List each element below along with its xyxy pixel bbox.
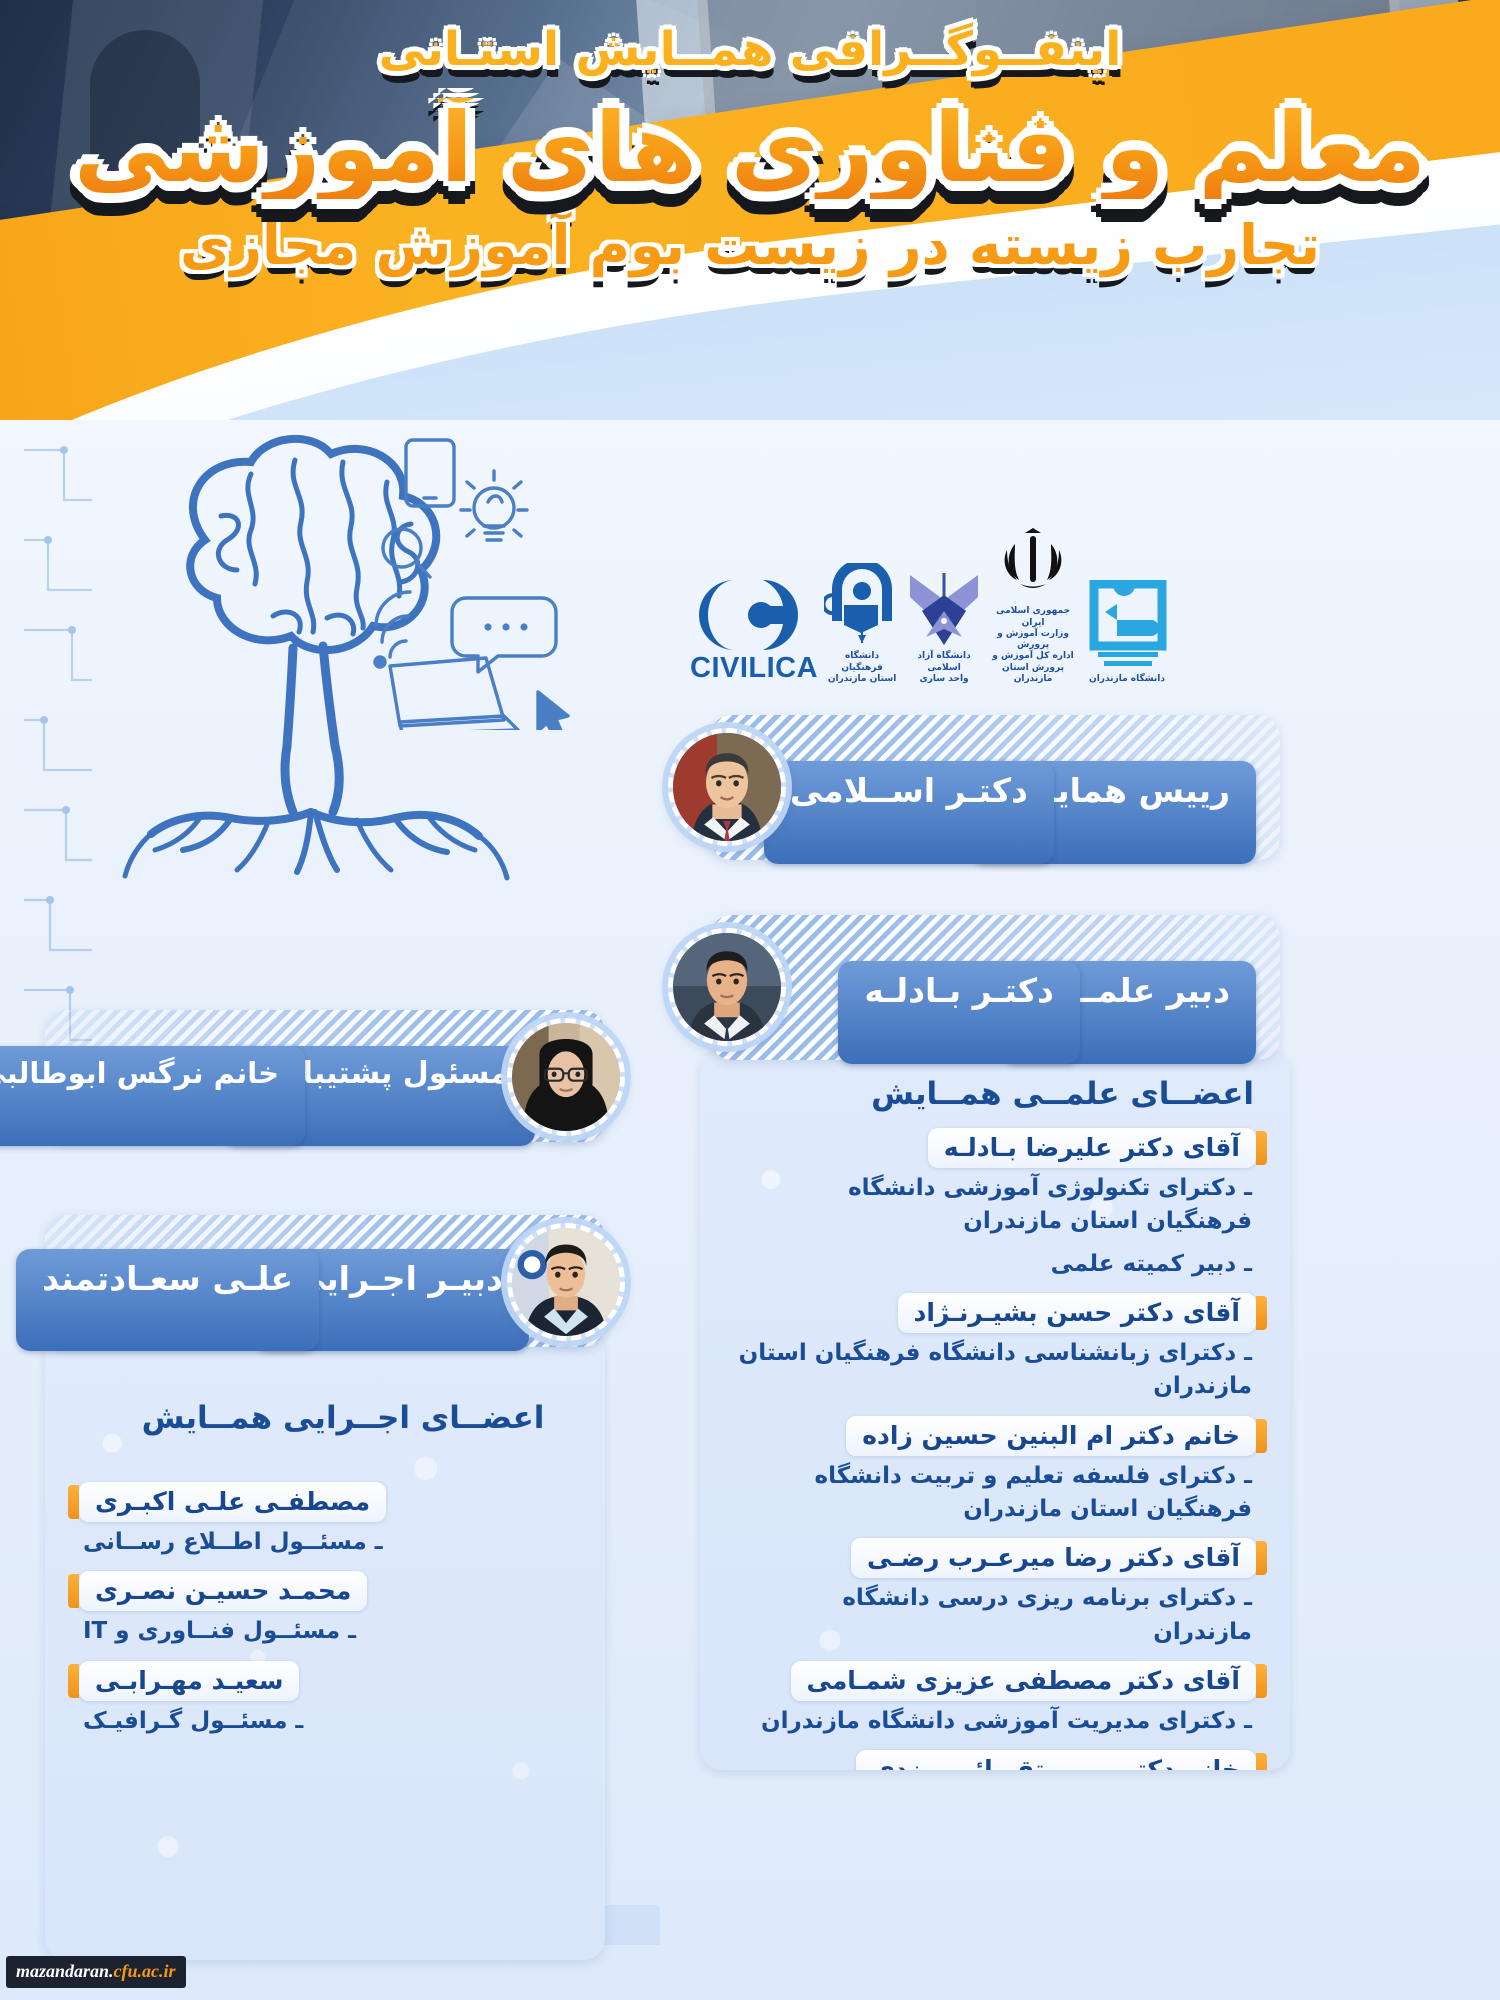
page-title: معلم و فناوری های آموزشی	[0, 98, 1500, 200]
lightbulb-icon	[461, 471, 527, 540]
member-affiliation: ـ دکترای تکنولوژی آموزشی دانشگاه فرهنگیا…	[734, 1171, 1256, 1247]
committee-member: آقای دکتر حسن بشیـرنـژادـ دکترای زبانشنا…	[734, 1293, 1256, 1412]
mazandaran-university-logo: دانشگاه مازندران	[1084, 580, 1170, 685]
civilica-wordmark: CIVILICA	[690, 652, 818, 685]
tablet-icon	[406, 440, 454, 506]
member-name: آقای دکتر مصطفی عزیزی شمـامی	[791, 1661, 1256, 1701]
executive-committee-panel: اعضــای اجــرایی همــایش مصطفـی علـی اکب…	[45, 1330, 605, 1960]
support-officer-avatar	[507, 1018, 625, 1136]
card-conference-chair: رییس همایش: دکتـر اســلامی	[710, 715, 1280, 860]
sponsor-logos-row: دانشگاه مازندران جمهوری اسلامی ایران وزا…	[690, 545, 1170, 685]
committee-member: خانم دکتر مریم تقـوائی یـزدیـ دکترای مدی…	[734, 1750, 1256, 1770]
poster-root: اینفــوگــرافی همــایش استـانی معلم و فن…	[0, 0, 1500, 2000]
member-affiliation: ـ دکترای مدیریت آموزشی دانشگاه مازندران	[734, 1704, 1256, 1746]
wifi-icon	[375, 592, 410, 667]
card-scientific-secretary: دبیر علمــی: دکتـر بـادلـه	[710, 915, 1280, 1060]
executive-committee-body: اعضــای اجــرایی همــایش مصطفـی علـی اکب…	[45, 1330, 605, 1960]
scientific-secretary-avatar	[668, 928, 786, 1046]
civilica-mark	[695, 576, 813, 654]
portrait-badeleh	[673, 933, 781, 1041]
committee-member: مصطفـی علـی اکبـریـ مسئــول اطــلاع رســ…	[79, 1482, 571, 1567]
farhangian-university-mark	[824, 563, 900, 649]
subtitle-text: تجارب زیسته در زیست بوم آموزش مجازی	[0, 215, 1500, 276]
islamic-azad-university-logo: دانشگاه آزاد اسلامی واحد ساری	[906, 565, 982, 685]
executive-committee-list: مصطفـی علـی اکبـریـ مسئــول اطــلاع رســ…	[45, 1452, 605, 1774]
committee-member: سعیـد مهـرابـیـ مسئــول گـرافیـک	[79, 1661, 571, 1746]
farhangian-university-caption: دانشگاه فرهنگیان استان مازندران	[824, 651, 900, 685]
member-affiliation: ـ مسئــول گـرافیـک	[79, 1704, 571, 1746]
footer-url-badge[interactable]: mazandaran.cfu.ac.ir	[6, 1956, 186, 1988]
member-affiliation: ـ دکترای فلسفه تعلیم و تربیت دانشگاه فره…	[734, 1459, 1256, 1535]
member-name: سعیـد مهـرابـی	[79, 1661, 299, 1701]
member-name: آقای دکتر علیرضا بـادلـه	[928, 1128, 1256, 1168]
card-support-officer: مسئول پشتیبانی: خانم نرگس ابوطالبی	[45, 1010, 605, 1142]
executive-secretary-name-label: علـی سعـادتمند	[16, 1249, 319, 1351]
kicker-text: اینفــوگــرافی همــایش استـانی	[0, 24, 1500, 76]
iran-emblem-icon	[994, 522, 1072, 604]
member-affiliation: ـ مسئــول فنــاوری و IT	[79, 1614, 571, 1656]
laptop-icon	[390, 658, 518, 730]
member-affiliation: ـ دبیر کمیته علمی	[734, 1247, 1256, 1289]
mazandaran-university-mark	[1084, 580, 1170, 672]
support-officer-name-label: خانم نرگس ابوطالبی	[0, 1046, 305, 1146]
mazandaran-university-caption: دانشگاه مازندران	[1089, 674, 1165, 685]
member-name: محمـد حسیـن نصـری	[79, 1571, 367, 1611]
committee-member: آقای دکتر مصطفی عزیزی شمـامیـ دکترای مدی…	[734, 1661, 1256, 1746]
portrait-saadatmand	[512, 1228, 620, 1336]
ministry-of-education-logo: جمهوری اسلامی ایران وزارت آموزش و پرورش …	[988, 522, 1078, 685]
chair-name-label: دکتـر اســلامی	[764, 761, 1054, 864]
member-name: آقای دکتر رضا میرعـرب رضـی	[851, 1538, 1256, 1578]
member-affiliation: ـ دکترای زبانشناسی دانشگاه فرهنگیان استا…	[734, 1336, 1256, 1412]
committee-member: آقای دکتر علیرضا بـادلـهـ دکترای تکنولوژ…	[734, 1128, 1256, 1289]
scientific-committee-panel: اعضــای علمــی همــایش آقای دکتر علیرضا …	[700, 1050, 1290, 1770]
committee-member: محمـد حسیـن نصـریـ مسئــول فنــاوری و IT	[79, 1571, 571, 1656]
member-affiliation: ـ مسئــول اطــلاع رســانی	[79, 1525, 571, 1567]
footer-url-suffix: cfu.ac.ir	[114, 1961, 176, 1981]
member-name: خانم دکتر ام البنین حسین زاده	[846, 1416, 1256, 1456]
chair-avatar	[668, 728, 786, 846]
portrait-eslami	[673, 733, 781, 841]
scientific-secretary-name-label: دکتـر بـادلـه	[838, 961, 1080, 1064]
card-executive-secretary: دبیـر اجـرایی: علـی سعـادتمند	[45, 1215, 605, 1347]
member-name: مصطفـی علـی اکبـری	[79, 1482, 386, 1522]
ministry-caption: جمهوری اسلامی ایران وزارت آموزش و پرورش …	[988, 606, 1078, 685]
executive-secretary-avatar	[507, 1223, 625, 1341]
azad-university-caption: دانشگاه آزاد اسلامی واحد ساری	[906, 651, 982, 685]
search-icon	[383, 529, 430, 577]
member-affiliation: ـ دکترای برنامه ریزی درسی دانشگاه مازندر…	[734, 1581, 1256, 1657]
civilica-logo: CIVILICA	[690, 576, 818, 685]
member-name: خانم دکتر مریم تقـوائی یـزدی	[856, 1750, 1256, 1770]
farhangian-university-logo: دانشگاه فرهنگیان استان مازندران	[824, 563, 900, 685]
committee-member: خانم دکتر ام البنین حسین زادهـ دکترای فل…	[734, 1416, 1256, 1535]
tech-icons-cluster	[370, 430, 620, 730]
footer-url-prefix: mazandaran.	[16, 1961, 114, 1981]
scientific-committee-body: اعضــای علمــی همــایش آقای دکتر علیرضا …	[700, 1050, 1290, 1770]
cursor-icon	[538, 692, 568, 730]
azad-university-mark	[906, 565, 982, 649]
portrait-abootalebi	[512, 1023, 620, 1131]
member-name: آقای دکتر حسن بشیـرنـژاد	[898, 1293, 1256, 1333]
scientific-committee-list: آقای دکتر علیرضا بـادلـهـ دکترای تکنولوژ…	[700, 1128, 1290, 1770]
title-block: اینفــوگــرافی همــایش استـانی معلم و فن…	[0, 0, 1500, 276]
committee-member: آقای دکتر رضا میرعـرب رضـیـ دکترای برنام…	[734, 1538, 1256, 1657]
